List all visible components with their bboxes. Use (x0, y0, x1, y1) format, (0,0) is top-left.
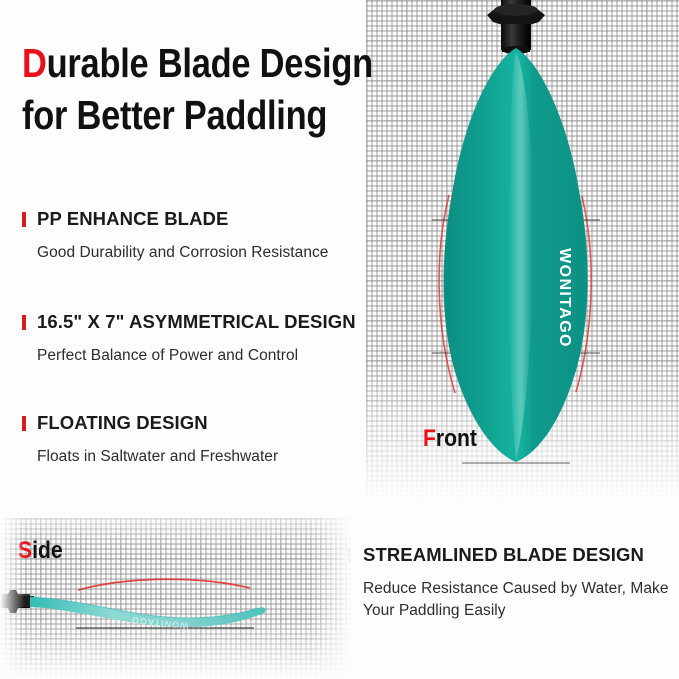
bullet-marker-icon (22, 315, 26, 330)
feature-description: Perfect Balance of Power and Control (37, 345, 422, 367)
headline-line-1-text: urable Blade Design (47, 40, 373, 86)
feature-description: Good Durability and Corrosion Resistance (37, 242, 422, 264)
bullet-marker-icon (22, 416, 26, 431)
feature-title-row: FLOATING DESIGN (22, 412, 422, 434)
red-reference-arc (78, 579, 250, 590)
side-label-accent-letter: S (18, 537, 32, 564)
bullet-marker-icon (348, 548, 352, 563)
feature-title-text: STREAMLINED BLADE DESIGN (363, 544, 644, 566)
feature-title-row: STREAMLINED BLADE DESIGN (348, 544, 678, 566)
front-label-text: ront (436, 425, 477, 452)
feature-title-row: PP ENHANCE BLADE (22, 208, 422, 230)
feature-title-text: 16.5" X 7" ASYMMETRICAL DESIGN (37, 311, 356, 333)
page-title: Durable Blade Design for Better Paddling (22, 38, 358, 141)
front-label-accent-letter: F (423, 425, 436, 452)
feature-title-row: 16.5" X 7" ASYMMETRICAL DESIGN (22, 311, 422, 333)
headline-accent-letter: D (22, 40, 47, 86)
feature-description: Reduce Resistance Caused by Water, Make … (363, 578, 678, 622)
feature-title-text: PP ENHANCE BLADE (37, 208, 228, 230)
feature-item-asymmetrical-design: 16.5" X 7" ASYMMETRICAL DESIGN Perfect B… (22, 311, 422, 367)
feature-item-pp-enhance-blade: PP ENHANCE BLADE Good Durability and Cor… (22, 208, 422, 264)
side-view-label: Side (18, 537, 63, 565)
bullet-marker-icon (22, 212, 26, 227)
brand-logo-text: WONITAGO (556, 248, 573, 348)
headline-line-2: for Better Paddling (22, 90, 358, 142)
side-label-text: ide (32, 537, 63, 564)
front-view-label: Front (423, 425, 477, 453)
ferrule-top-ring (494, 4, 538, 16)
feature-description: Floats in Saltwater and Freshwater (37, 446, 422, 468)
product-infographic: Durable Blade Design for Better Paddling… (0, 0, 679, 679)
feature-title-text: FLOATING DESIGN (37, 412, 208, 434)
headline-line-1: Durable Blade Design (22, 38, 358, 90)
feature-item-floating-design: FLOATING DESIGN Floats in Saltwater and … (22, 412, 422, 468)
feature-item-streamlined-blade-design: STREAMLINED BLADE DESIGN Reduce Resistan… (348, 544, 678, 622)
paddle-front-view-image: WONITAGO (400, 0, 630, 470)
